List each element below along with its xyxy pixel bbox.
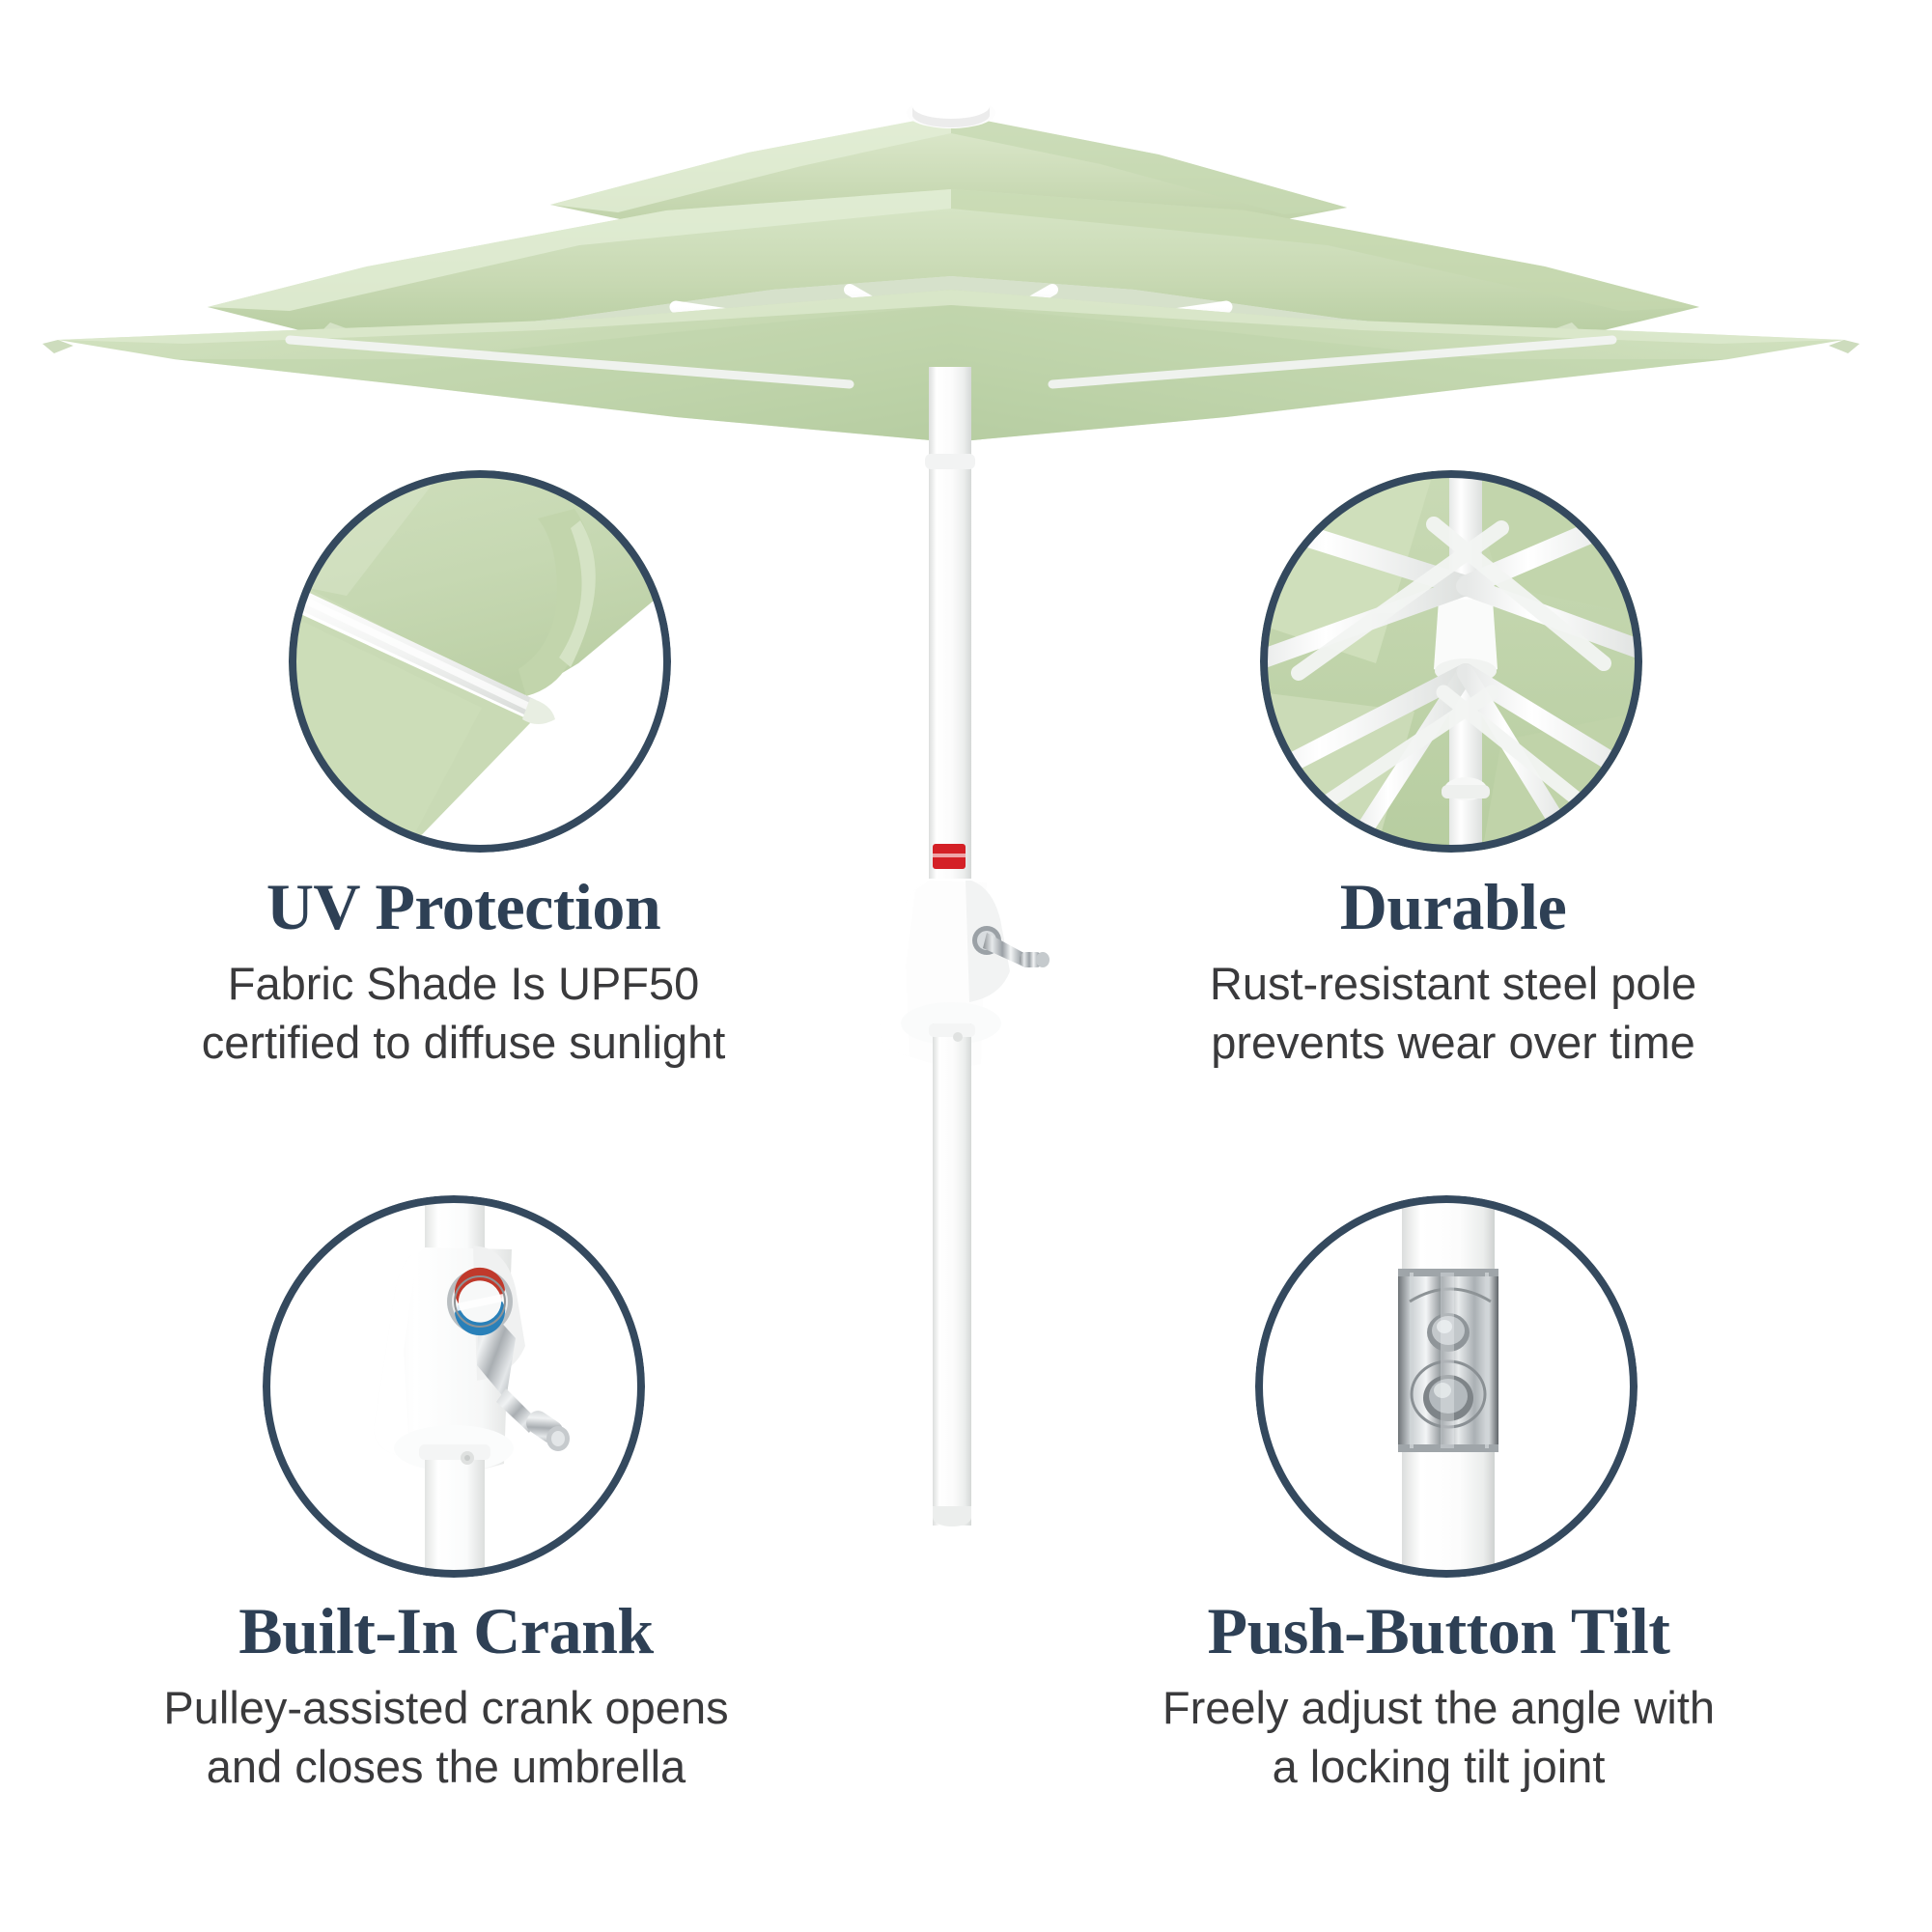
feature-block-uv: UV Protection Fabric Shade Is UPF50 cert… [77, 874, 850, 1073]
callout-crank-handle-image [263, 1195, 645, 1578]
feature-block-crank: Built-In Crank Pulley-assisted crank ope… [60, 1598, 832, 1797]
feature-desc-line: Pulley-assisted crank opens [60, 1678, 832, 1737]
feature-title-durable: Durable [1067, 874, 1839, 940]
canopy-tier-middle [208, 189, 1699, 353]
callout-crank-handle-closeup [263, 1195, 645, 1578]
feature-title-tilt: Push-Button Tilt [1052, 1598, 1825, 1665]
feature-title-uv: UV Protection [77, 874, 850, 940]
callout-fabric-panel-closeup [289, 470, 671, 853]
feature-desc-line: Fabric Shade Is UPF50 [77, 954, 850, 1013]
crank-handle [972, 926, 1050, 967]
callout-tilt-joint-image [1255, 1195, 1638, 1578]
callout-rib-hub-image [1260, 470, 1642, 853]
feature-block-tilt: Push-Button Tilt Freely adjust the angle… [1052, 1598, 1825, 1797]
feature-desc-durable: Rust-resistant steel pole prevents wear … [1067, 954, 1839, 1072]
feature-desc-line: Rust-resistant steel pole [1067, 954, 1839, 1013]
feature-desc-crank: Pulley-assisted crank opens and closes t… [60, 1678, 832, 1796]
callout-tilt-joint-closeup [1255, 1195, 1638, 1578]
canopy-tier-top [550, 94, 1347, 234]
canopy-tier-bottom [42, 290, 1860, 442]
feature-desc-line: Freely adjust the angle with [1052, 1678, 1825, 1737]
infographic-page: UV Protection Fabric Shade Is UPF50 cert… [0, 0, 1932, 1932]
feature-desc-line: certified to diffuse sunlight [77, 1013, 850, 1072]
canopy-underside-frame [454, 286, 1448, 390]
callout-rib-hub-closeup [1260, 470, 1642, 853]
feature-desc-tilt: Freely adjust the angle with a locking t… [1052, 1678, 1825, 1796]
callout-fabric-panel-image [289, 470, 671, 853]
umbrella-pole [880, 367, 1050, 1526]
feature-block-durable: Durable Rust-resistant steel pole preven… [1067, 874, 1839, 1073]
pole-warning-sticker [933, 844, 966, 869]
feature-title-crank: Built-In Crank [60, 1598, 832, 1665]
feature-desc-line: and closes the umbrella [60, 1737, 832, 1796]
feature-desc-line: prevents wear over time [1067, 1013, 1839, 1072]
feature-desc-uv: Fabric Shade Is UPF50 certified to diffu… [77, 954, 850, 1072]
feature-desc-line: a locking tilt joint [1052, 1737, 1825, 1796]
